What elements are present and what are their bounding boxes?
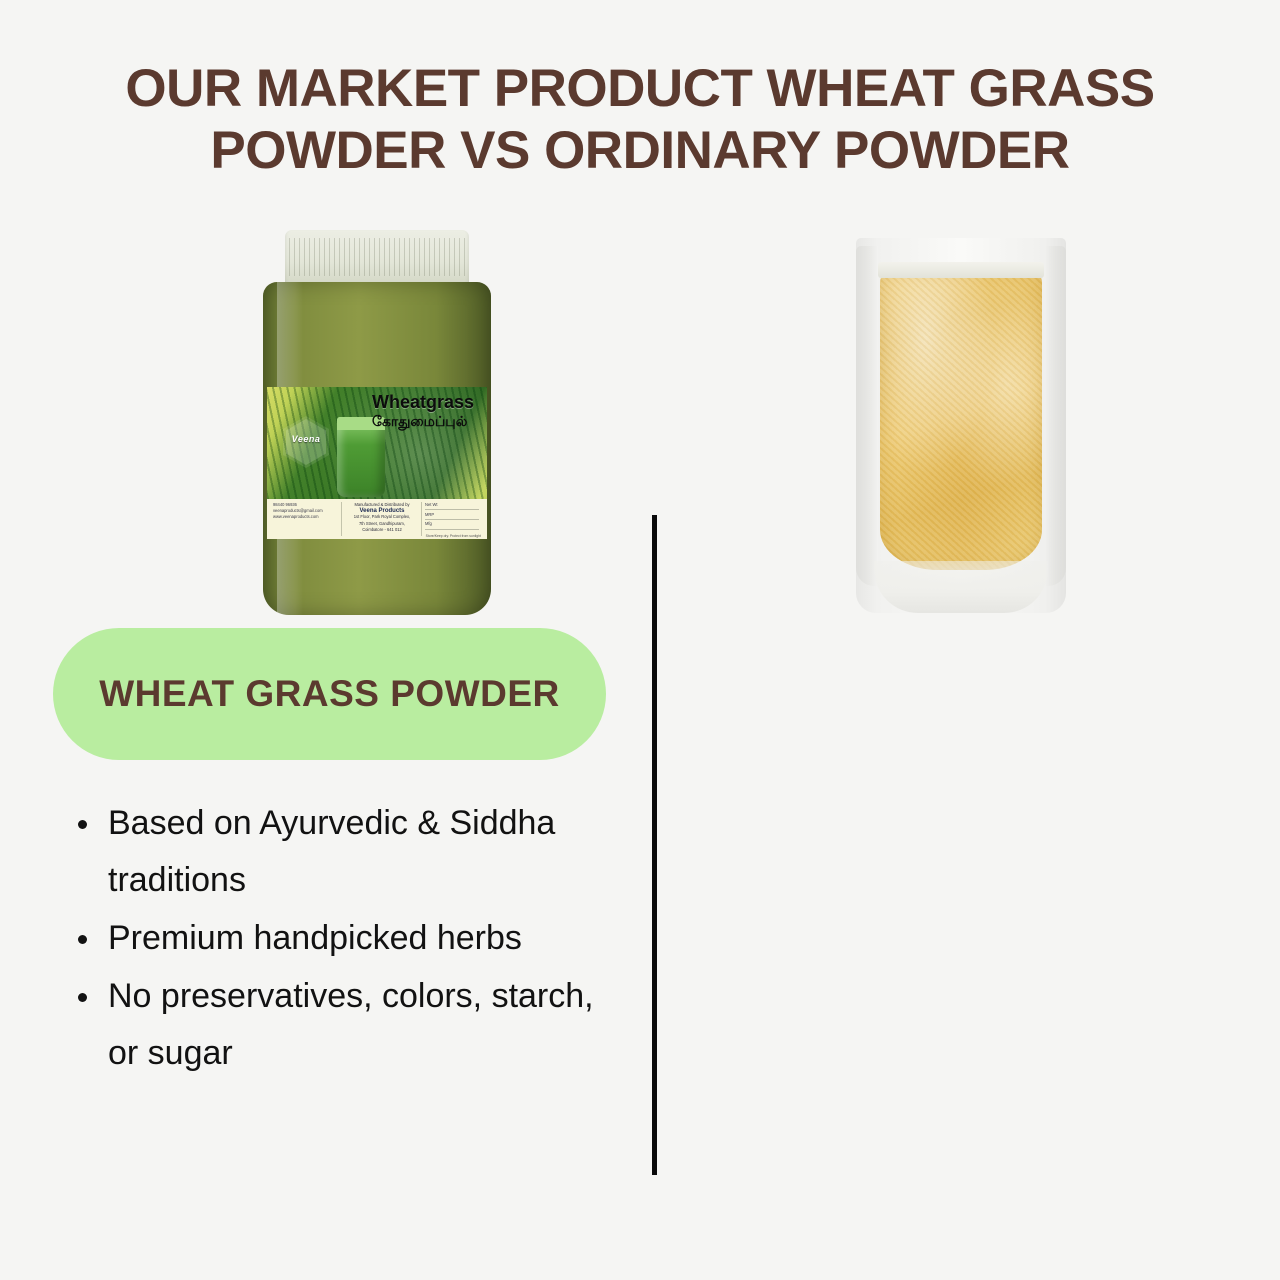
- list-item-text: Premium handpicked herbs: [108, 919, 522, 957]
- jar-body: Veena Wheatgrass கோதுமைப்புல் 98440 9693…: [263, 282, 491, 615]
- bullet-dot-icon: [78, 820, 87, 829]
- wheatgrass-powder-jar-image: Veena Wheatgrass கோதுமைப்புல் 98440 9693…: [263, 230, 491, 615]
- right-comparison-column: ORDINARY POWDER Mass-produced with no he…: [640, 0, 1280, 1280]
- label-spec-block: Net Wt MRP Mfg: [425, 502, 479, 531]
- list-item: No preservatives, colors, starch, or sug…: [68, 968, 613, 1082]
- list-item: Based on Ayurvedic & Siddha traditions: [68, 795, 613, 909]
- wheat-grass-powder-pill-label: WHEAT GRASS POWDER: [99, 671, 560, 717]
- label-address-1: 1st Floor, Park Royal Complex,: [345, 514, 419, 520]
- jar-cap: [285, 230, 469, 288]
- pouch-powder-contents: [880, 270, 1042, 570]
- label-divider-1: [341, 502, 342, 536]
- label-mfg-date: Mfg: [425, 521, 479, 529]
- label-product-name: Wheatgrass: [372, 393, 484, 412]
- label-contact-block: 98440 96936 veenaproducts@gmail.com www.…: [273, 502, 339, 521]
- label-product-name-tamil: கோதுமைப்புல்: [372, 414, 484, 430]
- pouch-bottom-gusset: [874, 561, 1048, 613]
- ordinary-powder-pouch-image: [856, 238, 1066, 613]
- label-mrp: MRP: [425, 512, 479, 520]
- bullet-dot-icon: [78, 935, 87, 944]
- label-website: www.veenaproducts.com: [273, 514, 339, 520]
- bullet-dot-icon: [78, 993, 87, 1002]
- pouch-left-edge: [856, 246, 878, 586]
- label-manufacturer-block: Manufactured & Distributed by Veena Prod…: [345, 502, 419, 533]
- wheat-grass-benefits-list: Based on Ayurvedic & Siddha traditions P…: [68, 795, 613, 1083]
- label-address-3: Coimbatore - 641 012: [345, 527, 419, 533]
- list-item-text: Based on Ayurvedic & Siddha traditions: [108, 804, 555, 899]
- brand-logo-text: Veena: [283, 434, 329, 444]
- pouch-right-edge: [1044, 246, 1066, 586]
- left-comparison-column: Veena Wheatgrass கோதுமைப்புல் 98440 9693…: [0, 0, 640, 1280]
- label-divider-2: [421, 502, 422, 536]
- label-net-weight: Net Wt: [425, 502, 479, 510]
- jar-label-artwork: Veena Wheatgrass கோதுமைப்புல்: [267, 387, 487, 499]
- label-footer-note: Store/Keep dry. Protect from sunlight: [267, 534, 487, 538]
- wheat-grass-powder-pill: WHEAT GRASS POWDER: [53, 628, 606, 760]
- pouch-top-seal: [878, 262, 1044, 278]
- list-item-text: No preservatives, colors, starch, or sug…: [108, 977, 594, 1072]
- wheatgrass-product-stage: Veena Wheatgrass கோதுமைப்புல் 98440 9693…: [0, 220, 640, 620]
- jar-label: Veena Wheatgrass கோதுமைப்புல் 98440 9693…: [267, 387, 487, 539]
- jar-label-info-panel: 98440 96936 veenaproducts@gmail.com www.…: [267, 499, 487, 539]
- list-item: Premium handpicked herbs: [68, 910, 613, 967]
- ordinary-product-stage: [640, 220, 1280, 620]
